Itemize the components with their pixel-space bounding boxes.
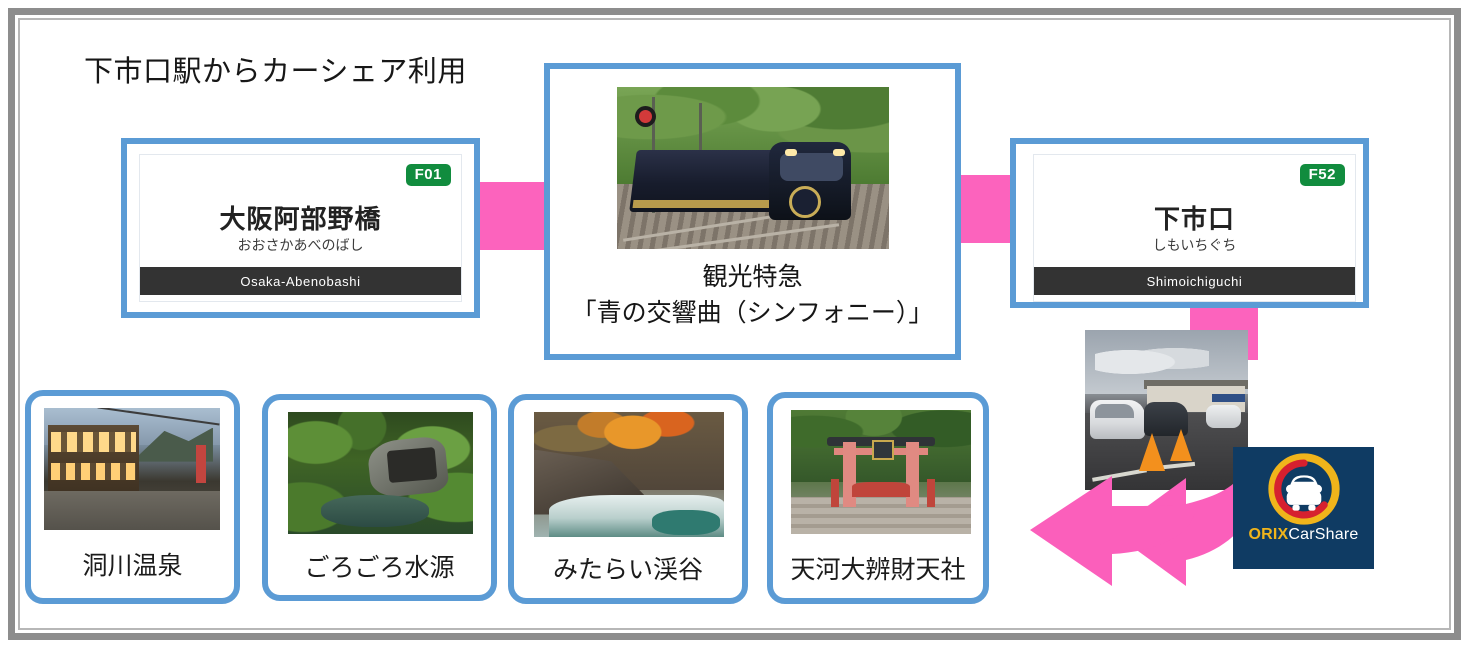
station-name-romaji: Osaka-Abenobashi: [140, 267, 461, 295]
gorogoro-suigen-photo: [288, 412, 473, 534]
station-box-osaka-abenobashi[interactable]: F01 大阪阿部野橋 おおさかあべのばし Osaka-Abenobashi: [121, 138, 480, 318]
train-caption-line2: 「青の交響曲（シンフォニー）」: [550, 297, 955, 329]
station-sign-body: F52 下市口 しもいちぐち: [1034, 155, 1355, 267]
train-info-box[interactable]: 観光特急 「青の交響曲（シンフォニー）」: [544, 63, 961, 360]
station-name-kanji: 大阪阿部野橋: [140, 199, 461, 236]
station-sign-body: F01 大阪阿部野橋 おおさかあべのばし: [140, 155, 461, 267]
carshare-car-icon: [1268, 453, 1340, 525]
train-caption-line1: 観光特急: [550, 261, 955, 293]
attraction-box-gorogoro-suigen[interactable]: ごろごろ水源: [262, 394, 497, 601]
tenkawa-daibenzaiten-photo: [791, 410, 971, 534]
orix-brand-text: ORIX: [1249, 526, 1289, 543]
station-box-shimoichiguchi[interactable]: F52 下市口 しもいちぐち Shimoichiguchi: [1010, 138, 1369, 308]
pink-curved-arrow-left: [1000, 466, 1262, 588]
station-code-badge: F52: [1300, 164, 1345, 186]
station-name-kana: しもいちぐち: [1034, 235, 1355, 255]
attraction-label-tenkawa-daibenzaiten: 天河大辨財天社: [773, 550, 983, 586]
station-sign-shimoichiguchi: F52 下市口 しもいちぐち Shimoichiguchi: [1033, 154, 1356, 302]
station-code-badge: F01: [406, 164, 451, 186]
attraction-box-tenkawa-daibenzaiten[interactable]: 天河大辨財天社: [767, 392, 989, 604]
attraction-label-gorogoro-suigen: ごろごろ水源: [268, 548, 491, 584]
station-name-kanji: 下市口: [1034, 199, 1355, 236]
diagram-canvas: 下市口駅からカーシェア利用 F01 大阪阿部野橋 おおさかあべのばし Osaka…: [0, 0, 1469, 648]
station-name-romaji: Shimoichiguchi: [1034, 267, 1355, 295]
mitarai-keikoku-photo: [534, 412, 724, 537]
carshare-product-text: CarShare: [1288, 526, 1358, 543]
orix-logo-wordmark: ORIXCarShare: [1249, 526, 1359, 544]
station-sign-osaka-abenobashi: F01 大阪阿部野橋 おおさかあべのばし Osaka-Abenobashi: [139, 154, 462, 302]
attraction-label-dorogawa-onsen: 洞川温泉: [31, 546, 234, 582]
page-title: 下市口駅からカーシェア利用: [84, 48, 467, 90]
train-photo: [617, 87, 889, 249]
attraction-label-mitarai-keikoku: みたらい渓谷: [514, 550, 742, 586]
dorogawa-onsen-photo: [44, 408, 220, 530]
orix-carshare-logo[interactable]: ORIXCarShare: [1233, 447, 1374, 569]
station-name-kana: おおさかあべのばし: [140, 235, 461, 255]
attraction-box-mitarai-keikoku[interactable]: みたらい渓谷: [508, 394, 748, 604]
attraction-box-dorogawa-onsen[interactable]: 洞川温泉: [25, 390, 240, 604]
